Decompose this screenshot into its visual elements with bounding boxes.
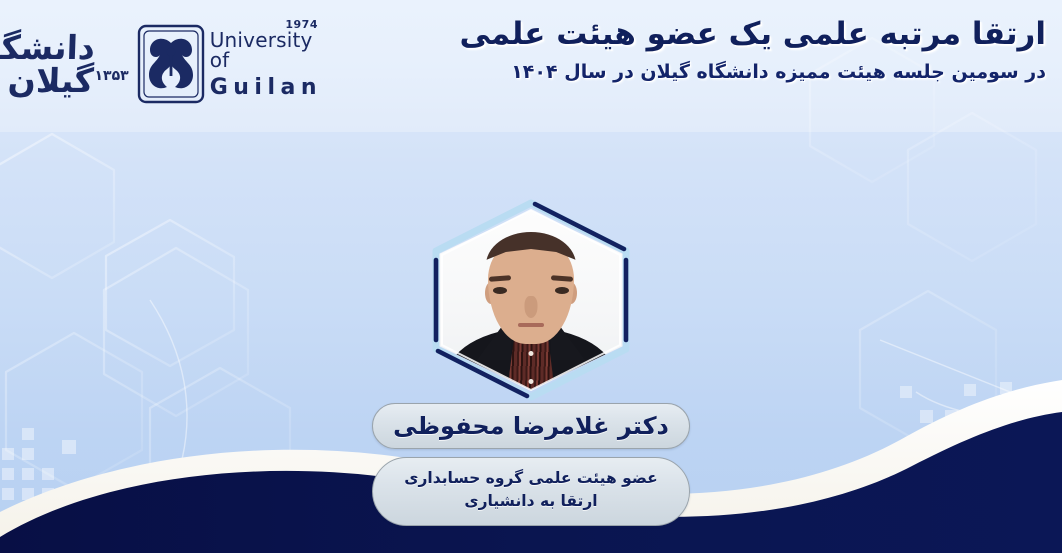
- person-name-badge: دکتر غلامرضا محفوظی: [372, 403, 690, 449]
- hexagon-frame: [423, 198, 639, 402]
- person-name: دکتر غلامرضا محفوظی: [393, 412, 669, 440]
- logo-persian-text: ۱۳۵۳ دانشگاه گیلان: [0, 31, 132, 97]
- logo-year-english: 1974: [285, 19, 318, 30]
- title-block: ارتقا مرتبه علمی یک عضو هیئت علمی در سوم…: [426, 16, 1046, 85]
- logo-english-line1: 1974 University of: [210, 30, 322, 70]
- poster-canvas: 1974 University of Guilan ۱۳۵۳ دانشگاه گ…: [0, 0, 1062, 553]
- person-role-line2: ارتقا به دانشیاری: [385, 490, 677, 513]
- logo-english-line2: Guilan: [210, 77, 322, 99]
- logo-english-text: 1974 University of Guilan: [210, 30, 322, 99]
- logo-english-line1-text: University of: [210, 28, 313, 72]
- poster-header: 1974 University of Guilan ۱۳۵۳ دانشگاه گ…: [0, 0, 1062, 132]
- poster-main-title: ارتقا مرتبه علمی یک عضو هیئت علمی: [426, 16, 1046, 54]
- person-role-badge: عضو هیئت علمی گروه حسابداری ارتقا به دان…: [372, 457, 690, 526]
- logo-persian-name: دانشگاه گیلان: [0, 31, 96, 97]
- person-info: دکتر غلامرضا محفوظی عضو هیئت علمی گروه ح…: [372, 403, 690, 526]
- dot-grid-right: [900, 382, 1057, 495]
- portrait-frame: [423, 198, 639, 402]
- guilan-emblem-icon: [136, 23, 206, 105]
- poster-subtitle: در سومین جلسه هیئت ممیزه دانشگاه گیلان د…: [426, 60, 1046, 85]
- university-logo: 1974 University of Guilan ۱۳۵۳ دانشگاه گ…: [8, 14, 328, 114]
- person-role-line1: عضو هیئت علمی گروه حسابداری: [385, 467, 677, 490]
- logo-year-persian: ۱۳۵۳: [95, 68, 129, 84]
- dot-grid-left: [2, 428, 76, 500]
